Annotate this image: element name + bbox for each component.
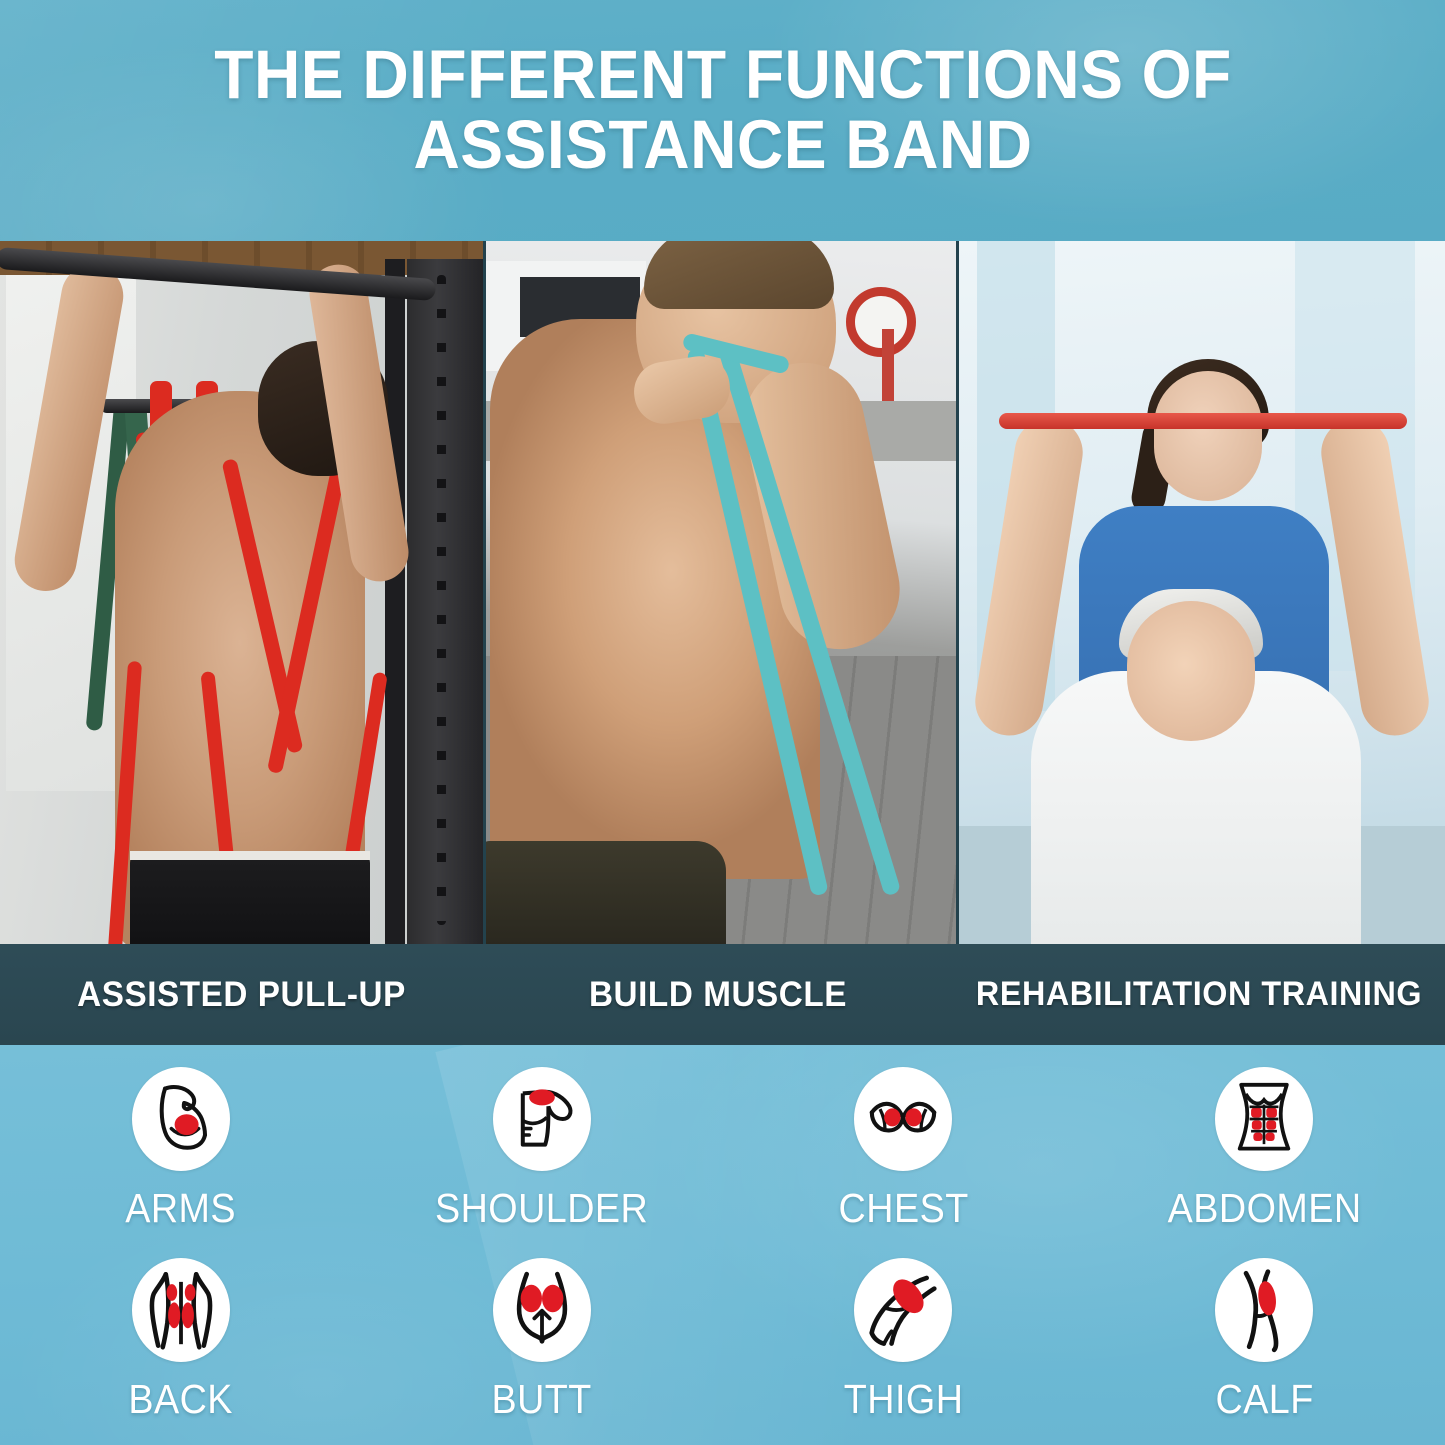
- shoulder-deltoid-icon: [493, 1067, 591, 1171]
- muscle-label-chest: CHEST: [737, 1185, 1069, 1232]
- speed-limit-sign: [846, 287, 916, 357]
- glutes-icon: [493, 1258, 591, 1362]
- squat-rack-upright: [407, 259, 483, 946]
- assisted-pull-up-photo: [0, 241, 483, 946]
- squat-rack-post: [385, 259, 405, 946]
- muscle-row-upper: ARMS SHOULDER: [0, 1067, 1445, 1232]
- red-stretch-band: [999, 413, 1407, 429]
- page-title-line-2: ASSISTANCE BAND: [127, 110, 1317, 180]
- muscle-label-calf: CALF: [1098, 1376, 1430, 1423]
- muscle-item-abdomen[interactable]: ABDOMEN: [1084, 1067, 1445, 1232]
- caption-build-muscle: BUILD MUSCLE: [495, 976, 942, 1014]
- page-title: THE DIFFERENT FUNCTIONS OF ASSISTANCE BA…: [127, 0, 1317, 181]
- muscle-item-calf[interactable]: CALF: [1084, 1258, 1445, 1423]
- rehabilitation-training-photo: [959, 241, 1445, 946]
- infographic-poster: THE DIFFERENT FUNCTIONS OF ASSISTANCE BA…: [0, 0, 1445, 1445]
- muscle-item-butt[interactable]: BUTT: [361, 1258, 722, 1423]
- muscle-label-back: BACK: [14, 1376, 346, 1423]
- caption-assisted-pull-up: ASSISTED PULL-UP: [12, 976, 471, 1014]
- flexed-bicep-icon: [132, 1067, 230, 1171]
- photo-strip: [0, 241, 1445, 946]
- muscle-item-arms[interactable]: ARMS: [0, 1067, 361, 1232]
- muscle-item-back[interactable]: BACK: [0, 1258, 361, 1423]
- page-title-line-1: THE DIFFERENT FUNCTIONS OF: [214, 36, 1231, 113]
- build-muscle-photo: [486, 241, 956, 946]
- muscle-label-arms: ARMS: [14, 1185, 346, 1232]
- caption-rehabilitation-training: REHABILITATION TRAINING: [965, 976, 1432, 1013]
- muscle-item-thigh[interactable]: THIGH: [723, 1258, 1084, 1423]
- header-banner: THE DIFFERENT FUNCTIONS OF ASSISTANCE BA…: [0, 0, 1445, 241]
- muscle-label-thigh: THIGH: [737, 1376, 1069, 1423]
- muscle-label-abdomen: ABDOMEN: [1098, 1185, 1430, 1232]
- athlete-pants: [486, 841, 726, 946]
- muscle-group-grid: ARMS SHOULDER: [0, 1045, 1445, 1445]
- muscle-label-butt: BUTT: [376, 1376, 708, 1423]
- muscle-item-shoulder[interactable]: SHOULDER: [361, 1067, 722, 1232]
- athlete-shorts: [130, 851, 370, 946]
- muscle-row-lower: BACK BUTT: [0, 1258, 1445, 1423]
- abdomen-sixpack-icon: [1215, 1067, 1313, 1171]
- caption-bar: ASSISTED PULL-UP BUILD MUSCLE REHABILITA…: [0, 944, 1445, 1045]
- muscle-item-chest[interactable]: CHEST: [723, 1067, 1084, 1232]
- chest-pectoral-icon: [854, 1067, 952, 1171]
- therapist-head: [1154, 371, 1262, 501]
- patient-head: [1127, 601, 1255, 741]
- calf-muscle-icon: [1215, 1258, 1313, 1362]
- thigh-quadriceps-icon: [854, 1258, 952, 1362]
- athlete-hair: [644, 241, 834, 309]
- muscle-label-shoulder: SHOULDER: [376, 1185, 708, 1232]
- back-muscles-icon: [132, 1258, 230, 1362]
